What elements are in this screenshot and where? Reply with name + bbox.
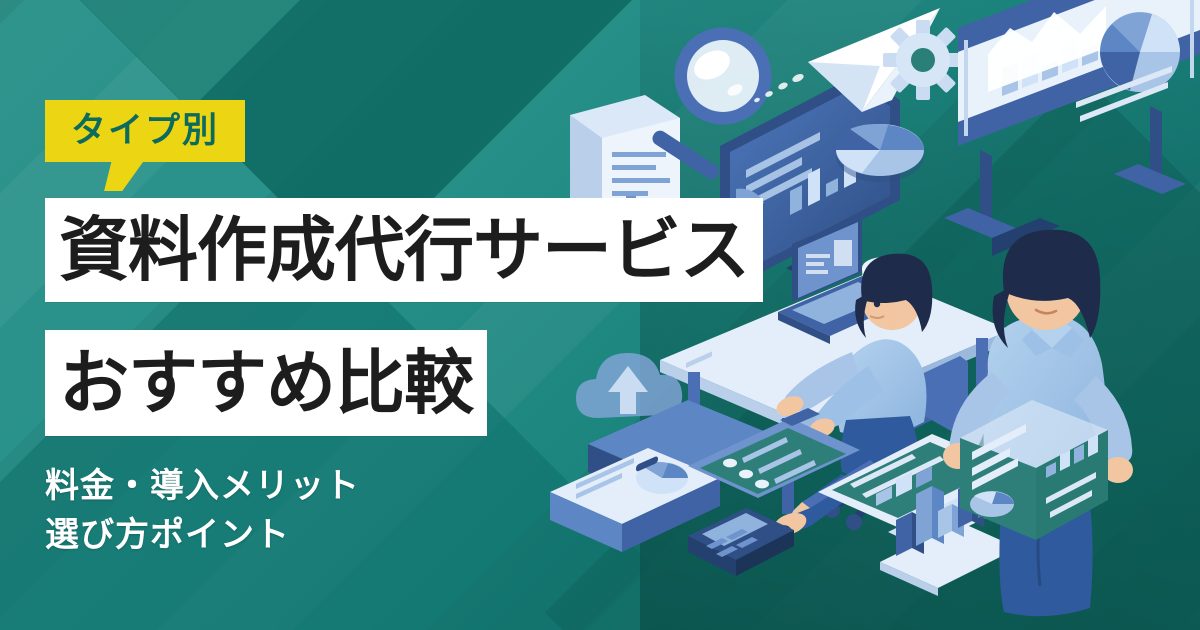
gear-icon [883, 20, 963, 100]
hero-illustration [540, 0, 1200, 630]
title-band-line1: 資料作成代行サービス [45, 198, 763, 302]
title-band-line2: おすすめ比較 [45, 330, 487, 436]
page-title-line1: 資料作成代行サービス [59, 215, 749, 285]
pie-chart-icon [836, 124, 924, 182]
calculator-icon [688, 508, 794, 576]
subtitle-line1: 料金・導入メリット [45, 462, 360, 511]
hero-banner: タイプ別 資料作成代行サービス おすすめ比較 料金・導入メリット 選び方ポイント [0, 0, 1200, 630]
presentation-board-icon [944, 0, 1200, 256]
category-badge-label: タイプ別 [71, 113, 219, 148]
page-title-line2: おすすめ比較 [59, 348, 473, 418]
category-badge: タイプ別 [45, 100, 245, 162]
subtitle: 料金・導入メリット 選び方ポイント [45, 462, 360, 561]
subtitle-line2: 選び方ポイント [45, 511, 360, 560]
